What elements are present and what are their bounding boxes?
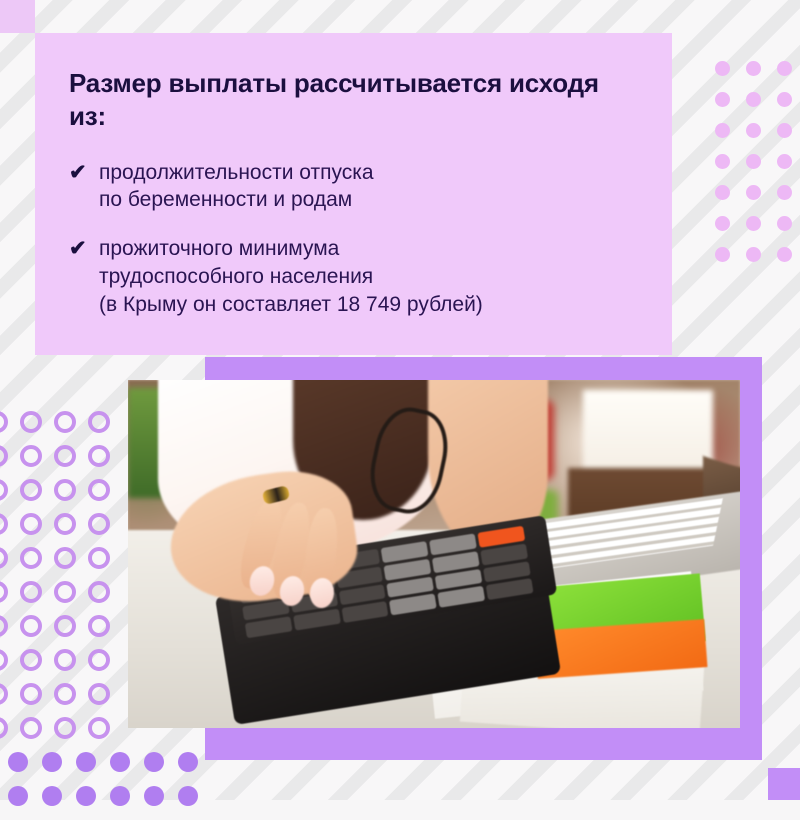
ring-icon: [20, 479, 42, 501]
ring-icon: [54, 649, 76, 671]
ring-icon: [54, 615, 76, 637]
dot-grid-icon-top-right: [715, 61, 800, 278]
ring-icon: [20, 411, 42, 433]
ring-icon: [0, 683, 8, 705]
list-item: ✔прожиточного минимума трудоспособного н…: [69, 235, 638, 319]
ring-icon: [20, 547, 42, 569]
dot-icon: [777, 247, 792, 262]
ring-icon: [88, 717, 110, 739]
ring-icon: [88, 649, 110, 671]
ring-icon: [88, 615, 110, 637]
dot-icon: [8, 786, 28, 806]
dot-icon: [178, 752, 198, 772]
list-item-label: прожиточного минимума трудоспособного на…: [99, 235, 483, 319]
benefit-criteria-list: ✔продолжительности отпуска по беременнос…: [69, 159, 638, 320]
dot-icon: [715, 61, 730, 76]
dot-icon: [777, 123, 792, 138]
ring-icon: [0, 581, 8, 603]
ring-icon: [20, 717, 42, 739]
dot-icon: [746, 216, 761, 231]
ring-icon: [54, 479, 76, 501]
decorative-square-top-left: [0, 0, 35, 33]
dot-icon: [42, 786, 62, 806]
dot-icon: [746, 92, 761, 107]
dot-icon: [777, 216, 792, 231]
ring-icon: [0, 479, 8, 501]
dot-icon: [110, 752, 130, 772]
dot-icon: [110, 786, 130, 806]
dot-icon: [777, 61, 792, 76]
ring-icon: [20, 581, 42, 603]
ring-grid-icon-left: [0, 411, 122, 751]
dot-icon: [8, 752, 28, 772]
ring-icon: [88, 581, 110, 603]
check-icon: ✔: [69, 159, 99, 187]
dot-icon: [715, 185, 730, 200]
list-item: ✔продолжительности отпуска по беременнос…: [69, 159, 638, 215]
dot-icon: [715, 247, 730, 262]
ring-icon: [0, 649, 8, 671]
dot-icon: [777, 154, 792, 169]
ring-icon: [88, 683, 110, 705]
dot-icon: [746, 61, 761, 76]
dot-icon: [777, 92, 792, 107]
ring-icon: [54, 547, 76, 569]
ring-icon: [88, 411, 110, 433]
ring-icon: [88, 547, 110, 569]
dot-icon: [715, 154, 730, 169]
ring-icon: [20, 683, 42, 705]
dot-icon: [777, 185, 792, 200]
ring-icon: [20, 513, 42, 535]
page-title: Размер выплаты рассчитывается исходя из:: [69, 67, 638, 133]
ring-icon: [0, 547, 8, 569]
ring-icon: [54, 513, 76, 535]
ring-icon: [0, 615, 8, 637]
ring-icon: [88, 479, 110, 501]
ring-icon: [88, 513, 110, 535]
dot-icon: [715, 92, 730, 107]
decorative-square-bottom-right: [768, 768, 800, 800]
ring-icon: [20, 445, 42, 467]
dot-icon: [76, 786, 96, 806]
dot-icon: [746, 185, 761, 200]
dot-grid-icon-bottom-left: [8, 752, 212, 820]
dot-icon: [746, 123, 761, 138]
ring-icon: [0, 513, 8, 535]
ring-icon: [54, 717, 76, 739]
photo-calculator-scene: [128, 380, 740, 728]
dot-icon: [715, 123, 730, 138]
info-panel: Размер выплаты рассчитывается исходя из:…: [35, 33, 672, 355]
check-icon: ✔: [69, 235, 99, 263]
ring-icon: [54, 581, 76, 603]
ring-icon: [20, 615, 42, 637]
ring-icon: [54, 411, 76, 433]
dot-icon: [715, 216, 730, 231]
dot-icon: [144, 786, 164, 806]
ring-icon: [88, 445, 110, 467]
list-item-label: продолжительности отпуска по беременност…: [99, 159, 374, 215]
dot-icon: [76, 752, 96, 772]
ring-icon: [0, 717, 8, 739]
ring-icon: [20, 649, 42, 671]
dot-icon: [746, 247, 761, 262]
dot-icon: [42, 752, 62, 772]
ring-icon: [54, 683, 76, 705]
dot-icon: [178, 786, 198, 806]
dot-icon: [746, 154, 761, 169]
ring-icon: [54, 445, 76, 467]
dot-icon: [144, 752, 164, 772]
ring-icon: [0, 445, 8, 467]
ring-icon: [0, 411, 8, 433]
